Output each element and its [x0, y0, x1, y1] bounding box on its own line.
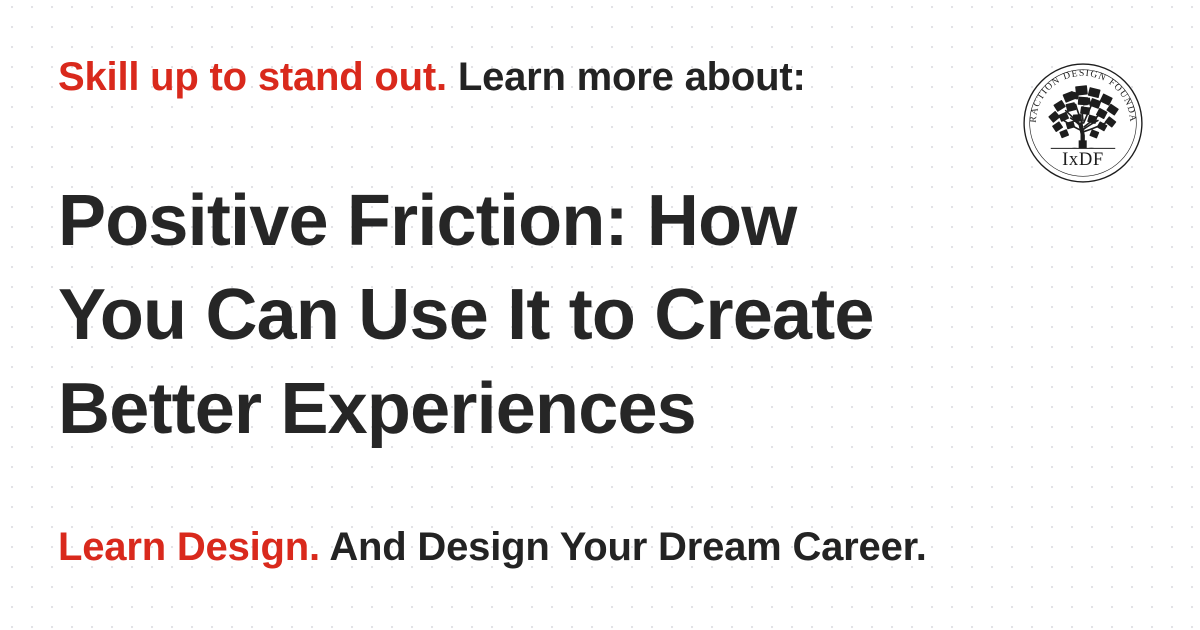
tagline-accent-text: Learn Design. [58, 525, 320, 569]
eyebrow-plain-text: Learn more about: [447, 55, 806, 99]
eyebrow-accent-text: Skill up to stand out. [58, 55, 447, 99]
page-title: Positive Friction: How You Can Use It to… [58, 174, 988, 456]
headline-line-1: Positive Friction: How [58, 174, 988, 268]
ixdf-logo: INTERACTION DESIGN FOUNDATION [1021, 61, 1145, 185]
headline-line-2: You Can Use It to Create [58, 268, 988, 362]
promo-card: Skill up to stand out. Learn more about:… [0, 0, 1200, 630]
tagline-line: Learn Design. And Design Your Dream Care… [58, 524, 1138, 570]
headline-line-3: Better Experiences [58, 362, 988, 456]
eyebrow-line: Skill up to stand out. Learn more about: [58, 54, 988, 100]
logo-wordmark: IxDF [1062, 149, 1104, 170]
tagline-plain-text: And Design Your Dream Career. [320, 525, 927, 569]
